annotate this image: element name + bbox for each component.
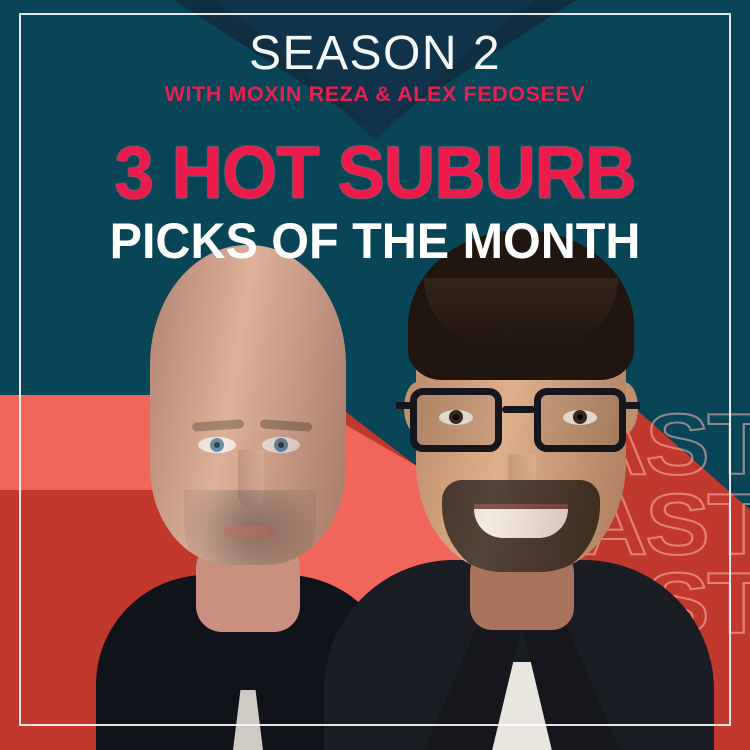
eyebrow-right	[260, 419, 313, 432]
eyeglasses-icon	[402, 388, 634, 454]
lens-right	[534, 388, 626, 452]
eyebrow-left	[192, 419, 245, 432]
glasses-arm-left	[396, 402, 412, 409]
beard-shape	[442, 480, 600, 572]
navy-chevron-shape	[0, 0, 750, 140]
eye-left	[198, 437, 236, 453]
mouth-shape	[224, 526, 276, 537]
mouth-shape	[474, 504, 568, 538]
nose-shape	[508, 454, 536, 502]
podcast-cover-poster: CAST CAST CAST	[0, 0, 750, 750]
nose-shape	[238, 450, 264, 508]
lens-left	[410, 388, 502, 452]
glasses-arm-right	[624, 402, 640, 409]
stubble-shape	[184, 490, 316, 565]
portrait-moxin-reza	[372, 230, 662, 750]
head-shape	[150, 245, 346, 565]
glasses-bridge	[502, 406, 536, 413]
eye-right	[262, 437, 300, 453]
